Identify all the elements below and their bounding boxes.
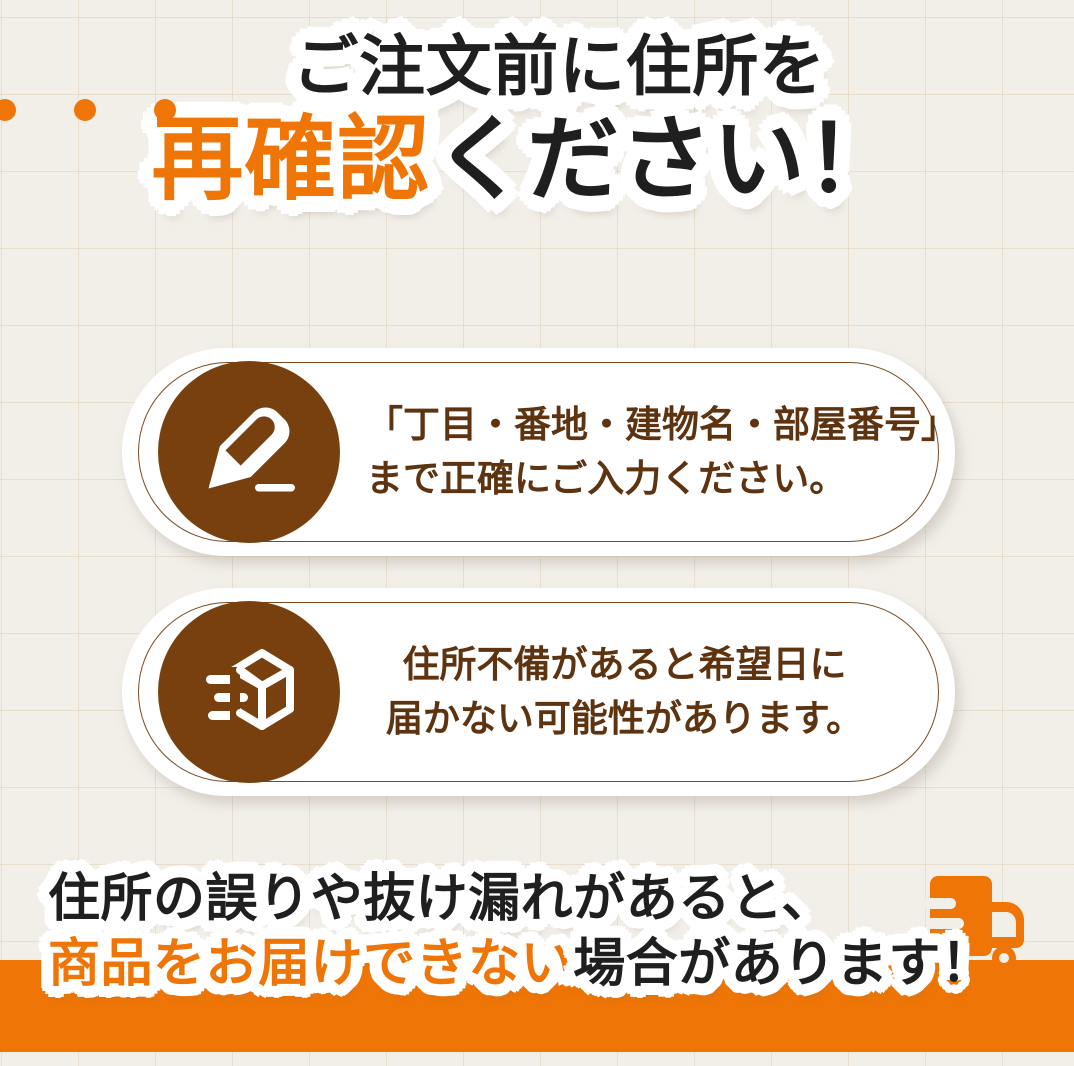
pencil-icon bbox=[158, 361, 340, 543]
bottom-message-line-1: 住所の誤りや抜け漏れがあると、 bbox=[48, 872, 968, 926]
info-card-address-detail: 「丁目・番地・建物名・部屋番号」 まで正確にご入力ください。 bbox=[122, 348, 955, 556]
bottom-message-emphasis: 商品をお届けできない bbox=[48, 935, 573, 993]
headline-emphasis: 再確認 bbox=[151, 113, 434, 209]
bottom-message-line-2: 商品をお届けできない場合があります！ bbox=[48, 936, 968, 992]
fast-delivery-box-icon bbox=[158, 601, 340, 783]
headline-line-2: 再確認 ください！ bbox=[0, 113, 1062, 209]
card-1-line-2: まで正確にご入力ください。 bbox=[366, 452, 958, 506]
emphasis-dot bbox=[0, 99, 16, 121]
bottom-message: 住所の誤りや抜け漏れがあると、 商品をお届けできない場合があります！ bbox=[48, 872, 968, 992]
card-1-line-1: 「丁目・番地・建物名・部屋番号」 bbox=[366, 398, 958, 452]
emphasis-dot bbox=[74, 99, 96, 121]
headline-rest: ください！ bbox=[434, 113, 899, 209]
card-2-line-2: 届かない可能性があります。 bbox=[340, 692, 909, 746]
banner-canvas: ご注文前に住所を 再確認 ください！ 「丁目・番地・建物名・部屋番号」 bbox=[0, 0, 1074, 1066]
headline: ご注文前に住所を 再確認 ください！ bbox=[0, 32, 1074, 208]
card-2-text: 住所不備があると希望日に 届かない可能性があります。 bbox=[340, 638, 955, 746]
info-card-delivery-risk: 住所不備があると希望日に 届かない可能性があります。 bbox=[122, 588, 955, 796]
emphasis-dot bbox=[154, 99, 176, 121]
card-2-line-1: 住所不備があると希望日に bbox=[340, 638, 909, 692]
headline-line-1: ご注文前に住所を bbox=[292, 32, 825, 101]
card-1-text: 「丁目・番地・建物名・部屋番号」 まで正確にご入力ください。 bbox=[340, 398, 984, 506]
emphasis-dots bbox=[0, 99, 176, 121]
bottom-message-tail: 場合があります！ bbox=[573, 935, 993, 993]
